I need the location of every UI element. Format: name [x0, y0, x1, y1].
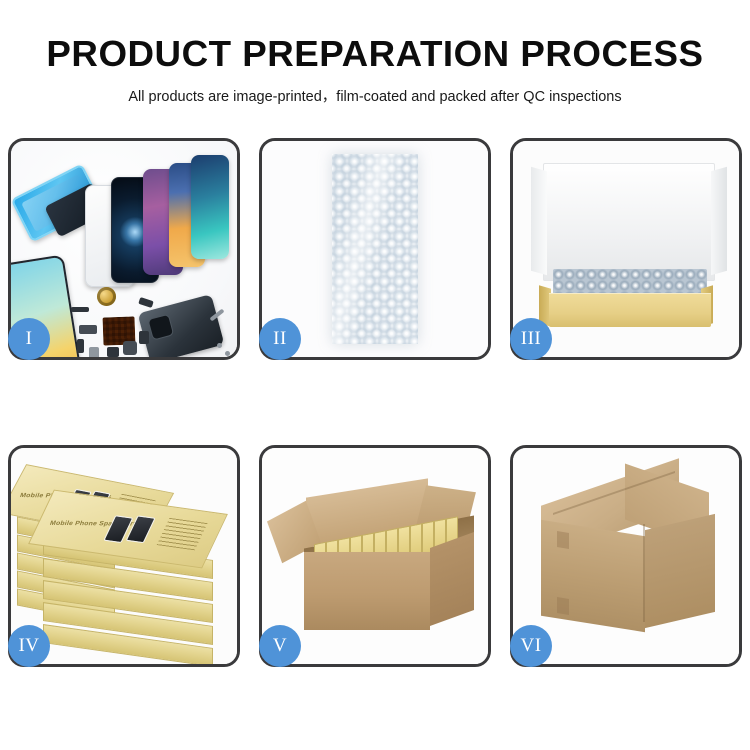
- carton-right-face: [430, 532, 474, 626]
- step-badge-2: II: [259, 318, 301, 360]
- header: PRODUCT PREPARATION PROCESS All products…: [0, 0, 750, 106]
- product-preparation-process-infographic: PRODUCT PREPARATION PROCESS All products…: [0, 0, 750, 750]
- phone-screen-teal: [191, 155, 229, 259]
- spare-part-clip: [139, 331, 149, 344]
- step-panel-6: VI: [510, 445, 742, 667]
- carton-tape-upper: [557, 531, 569, 549]
- spare-part-strip: [71, 307, 89, 312]
- carton-front-face: [304, 552, 430, 630]
- carton-tape-lower: [557, 597, 569, 615]
- carton-corner-edge: [643, 524, 645, 622]
- page-title: PRODUCT PREPARATION PROCESS: [0, 0, 750, 75]
- process-steps-grid: I II III: [8, 138, 742, 667]
- step-badge-6: VI: [510, 625, 552, 667]
- bubble-wrap-bag: [332, 154, 418, 344]
- spare-part-button: [107, 347, 119, 357]
- page-subtitle: All products are image-printed，film-coat…: [0, 75, 750, 106]
- white-box-lid: [543, 163, 715, 281]
- step-badge-1: I: [8, 318, 50, 360]
- step-panel-1: I: [8, 138, 240, 360]
- step-panel-5: V: [259, 445, 491, 667]
- step-badge-5: V: [259, 625, 301, 667]
- bag-highlight: [332, 154, 418, 344]
- spare-part-flex: [77, 339, 84, 353]
- spare-part-connector: [138, 297, 153, 308]
- step-badge-4: IV: [8, 625, 50, 667]
- camera-module-part: [123, 341, 137, 355]
- sim-tray-part: [89, 347, 99, 357]
- sealed-carton-right-face: [645, 514, 715, 628]
- step-badge-3: III: [510, 318, 552, 360]
- step-panel-4: Mobile Phone Spare Parts Mobile Phone Sp…: [8, 445, 240, 667]
- spare-part-bracket: [79, 325, 97, 334]
- screw-part: [217, 343, 222, 348]
- kraft-box-front-face: [549, 293, 711, 327]
- step-panel-3: III: [510, 138, 742, 360]
- box-spec-lines: [157, 518, 208, 551]
- screw-part-2: [225, 351, 230, 356]
- step-panel-2: II: [259, 138, 491, 360]
- speaker-coil-part: [97, 287, 116, 306]
